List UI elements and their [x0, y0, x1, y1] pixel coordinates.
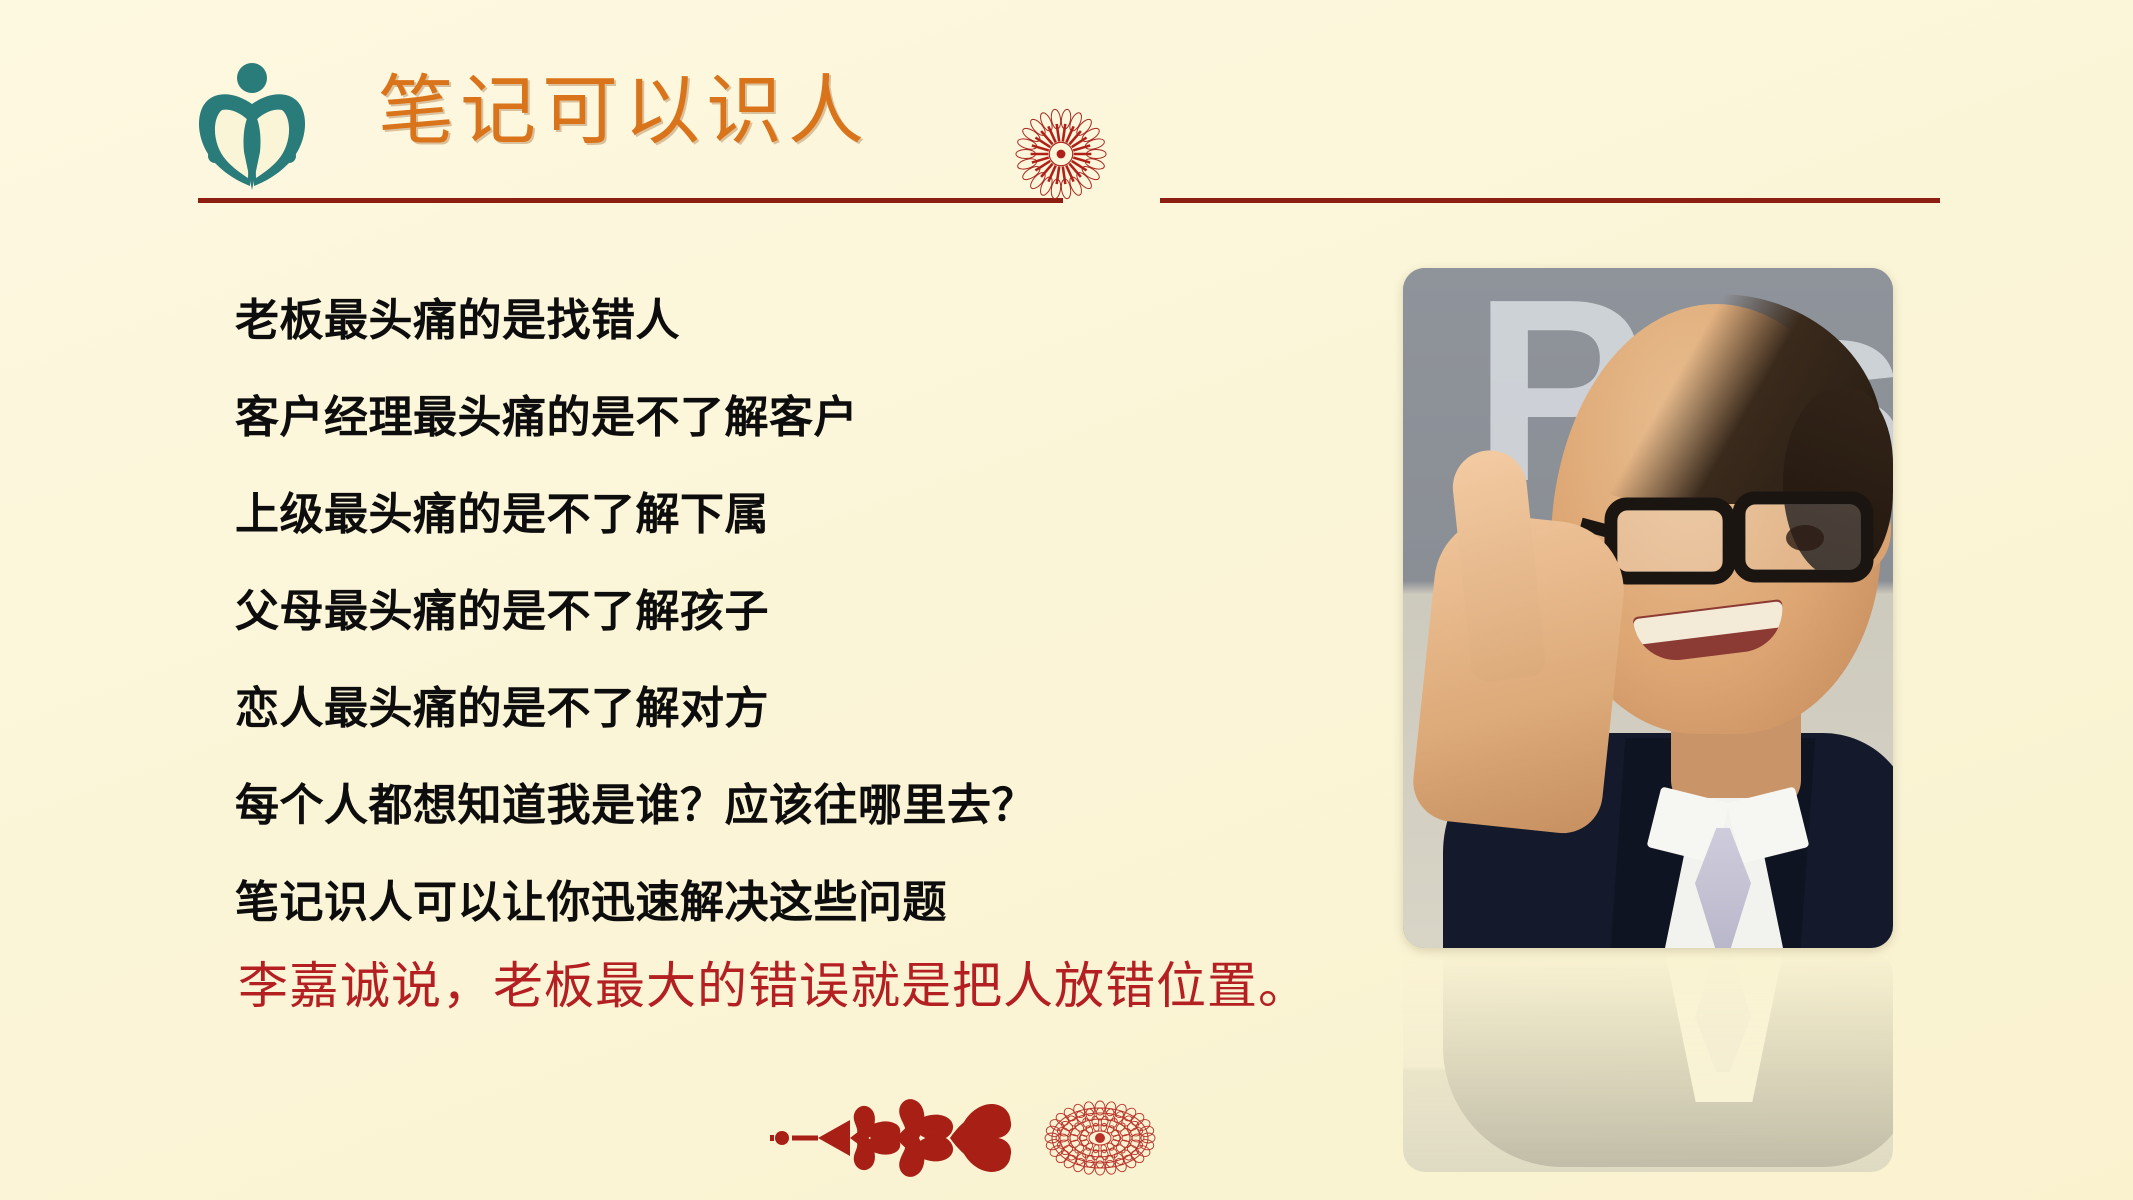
rosette-ornament-icon: [1012, 105, 1110, 203]
portrait-photo: P s: [1403, 268, 1893, 948]
slide-root: 笔记可以识人 老板最头痛的是找错人 客户经理最头痛的是不了解客户 上级最头痛的是…: [0, 0, 2133, 1200]
content-line: 恋人最头痛的是不了解对方: [235, 660, 1355, 757]
page-title: 笔记可以识人: [378, 62, 870, 162]
divider-rule-right: [1160, 198, 1940, 203]
floral-flourish-ornament-icon: [700, 1088, 1500, 1188]
portrait-photo-frame: P s: [1403, 268, 1893, 948]
content-line: 笔记识人可以让你迅速解决这些问题: [235, 854, 1355, 951]
divider-rule-left: [198, 198, 1063, 203]
attribution-quote: 李嘉诚说，老板最大的错误就是把人放错位置。: [238, 948, 1309, 1024]
content-lines: 老板最头痛的是找错人 客户经理最头痛的是不了解客户 上级最头痛的是不了解下属 父…: [235, 272, 1355, 951]
content-line: 父母最头痛的是不了解孩子: [235, 563, 1355, 660]
suit-jacket-reflection: [1443, 952, 1893, 1167]
content-line: 每个人都想知道我是谁？应该往哪里去？: [235, 757, 1355, 854]
content-line: 客户经理最头痛的是不了解客户: [235, 369, 1355, 466]
content-line: 老板最头痛的是找错人: [235, 272, 1355, 369]
slide-header: 笔记可以识人: [0, 0, 2133, 230]
lotus-person-emblem-icon: [182, 52, 322, 192]
content-line: 上级最头痛的是不了解下属: [235, 466, 1355, 563]
